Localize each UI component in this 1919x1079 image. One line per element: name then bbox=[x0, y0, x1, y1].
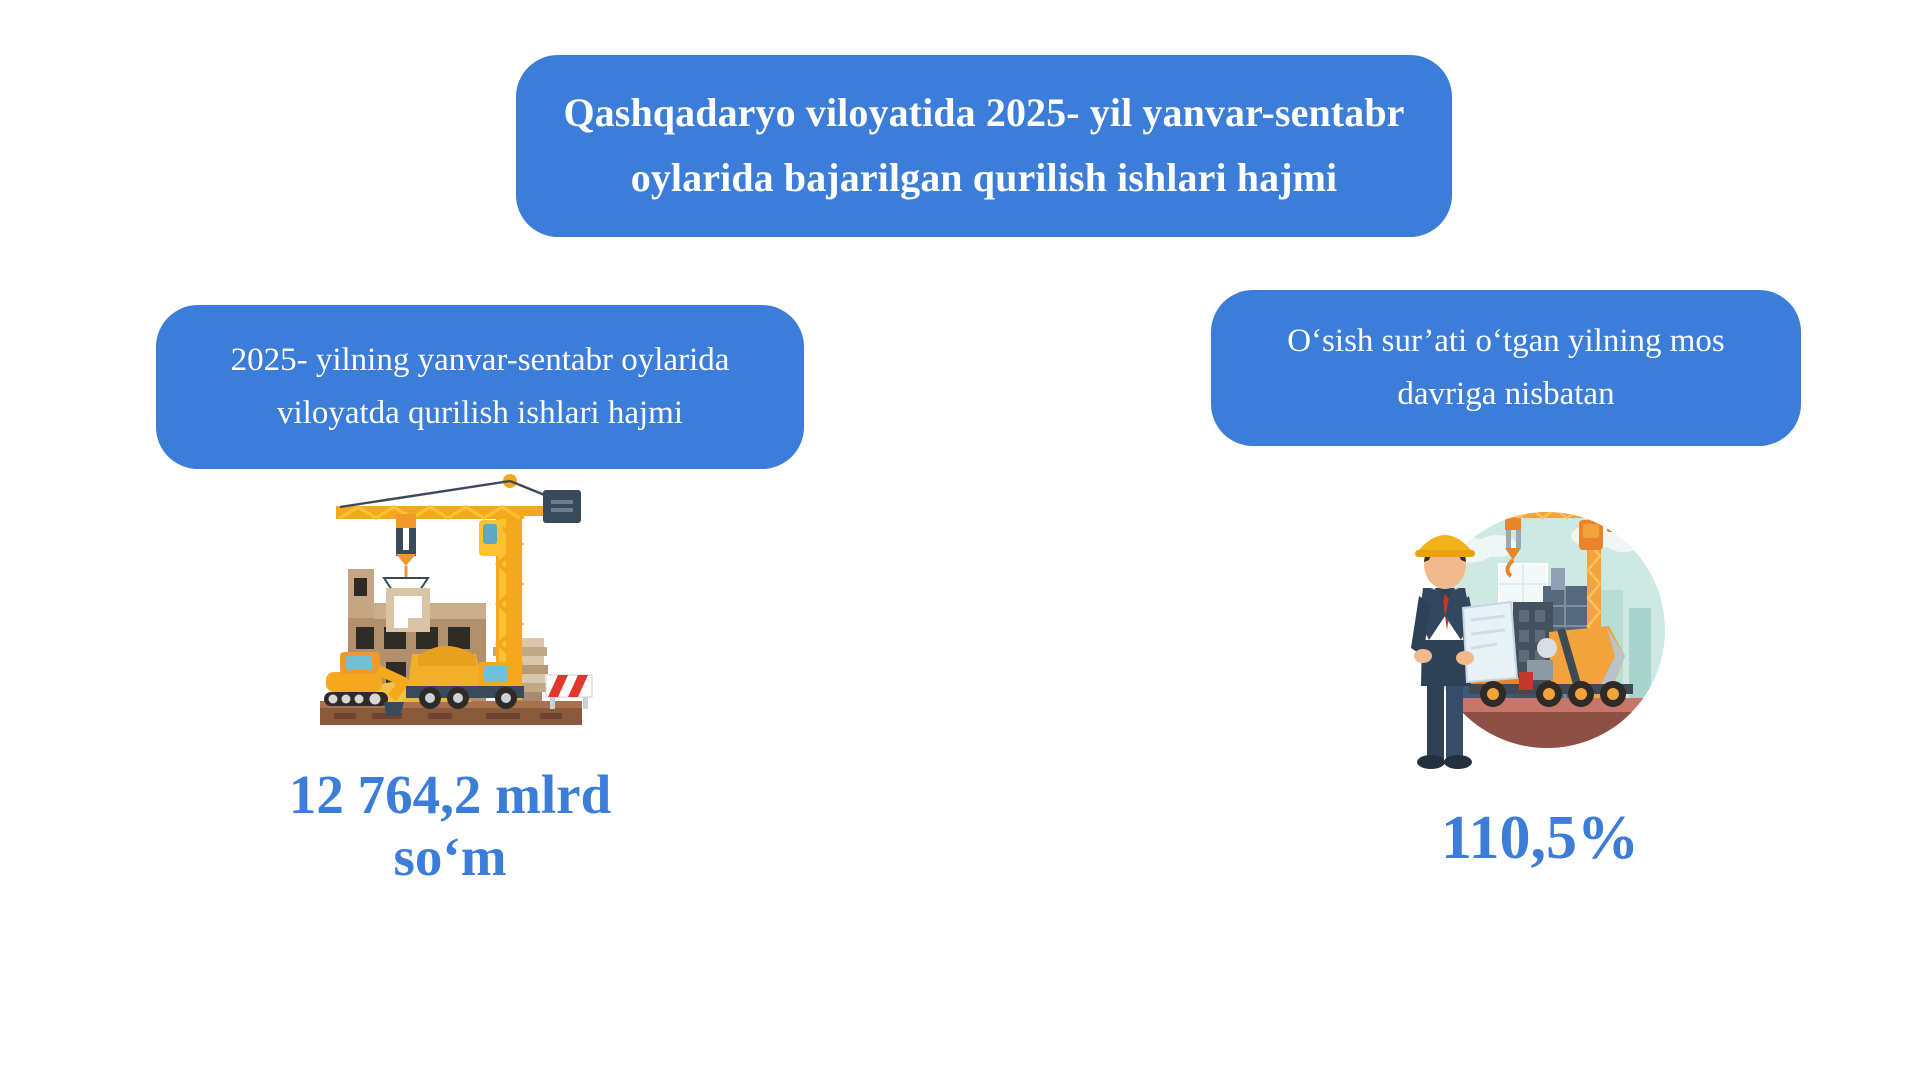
panel-label-growth-rate-text: O‘sish sur’ati o‘tgan yilning mos davrig… bbox=[1241, 315, 1771, 422]
value-growth-rate: 110,5% bbox=[1441, 804, 1639, 873]
panel-volume: 12 764,2 mlrd so‘m bbox=[240, 466, 660, 887]
title-banner: Qashqadaryo viloyatida 2025- yil yanvar-… bbox=[516, 55, 1452, 237]
panel-label-growth-rate: O‘sish sur’ati o‘tgan yilning mos davrig… bbox=[1211, 290, 1801, 446]
value-volume: 12 764,2 mlrd so‘m bbox=[240, 764, 660, 887]
panel-growth-rate: 110,5% bbox=[1370, 480, 1710, 873]
panel-label-volume: 2025- yilning yanvar-sentabr oylarida vi… bbox=[156, 305, 804, 469]
infographic-page: { "page": { "background_color": "#ffffff… bbox=[0, 0, 1919, 1079]
page-title: Qashqadaryo viloyatida 2025- yil yanvar-… bbox=[562, 81, 1406, 211]
engineer-concrete-mixer-icon bbox=[1401, 480, 1679, 772]
construction-site-crane-icon bbox=[300, 466, 600, 738]
panel-label-volume-text: 2025- yilning yanvar-sentabr oylarida vi… bbox=[186, 334, 774, 441]
